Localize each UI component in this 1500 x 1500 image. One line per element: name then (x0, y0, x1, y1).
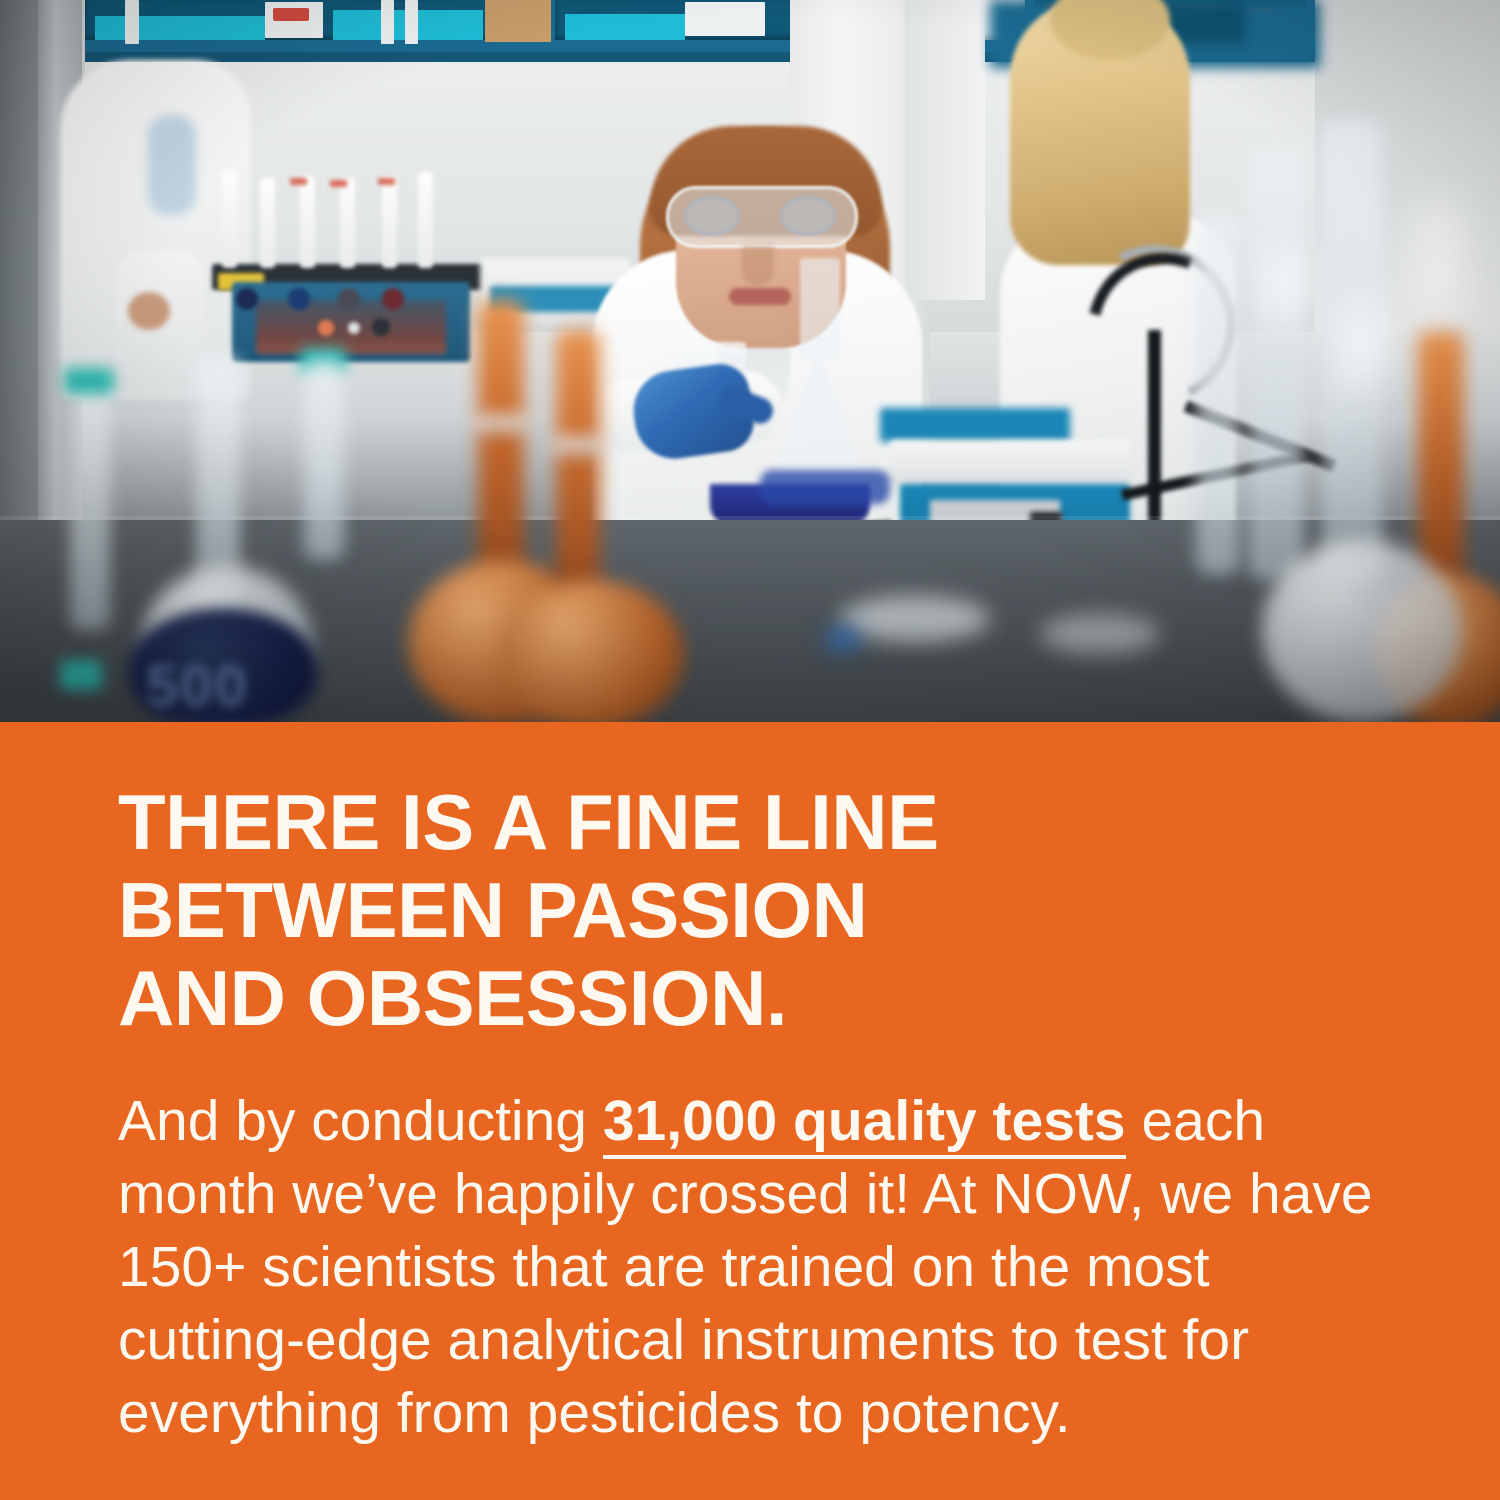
scientist-left-hand (128, 292, 170, 330)
graduated-cylinder-1 (1248, 150, 1304, 580)
body-copy: And by conducting 31,000 quality tests e… (118, 1085, 1386, 1450)
scientist-left-collar (148, 115, 196, 215)
orange-copy-panel: THERE IS A FINE LINE BETWEEN PASSION AND… (0, 722, 1500, 1500)
glass-highlight-2 (1344, 300, 1376, 390)
lab-photo: 500 (0, 0, 1500, 722)
headline-line-2: BETWEEN PASSION (118, 866, 1378, 954)
clear-flask-neck-center (304, 360, 344, 560)
bench-item-white (1040, 614, 1160, 654)
flask-liquid-highlight (760, 470, 890, 504)
wall-pillar-secondary (905, 0, 985, 300)
amber-flask-neck-2 (556, 330, 600, 620)
petri-dish (840, 596, 990, 642)
scientist-center-mouth (729, 288, 791, 305)
flask-500-label: 500 (146, 658, 249, 716)
scientist-center-nose (742, 246, 774, 286)
flask-collar-1 (472, 414, 530, 434)
body-copy-part-1: And by conducting (118, 1089, 603, 1153)
glass-highlight-3 (1420, 200, 1460, 320)
scientist-center-chin (722, 312, 796, 338)
erlenmeyer-flask-neck (800, 258, 840, 358)
ad-creative: 500 THERE IS A FINE LINE BETWEEN PASSION… (0, 0, 1500, 1500)
instrument-right-cover (890, 440, 1130, 486)
body-copy-emphasis: 31,000 quality tests (603, 1089, 1126, 1159)
headline: THERE IS A FINE LINE BETWEEN PASSION AND… (118, 778, 1378, 1042)
flask-cap-teal-left (60, 660, 102, 690)
clear-flask-bulb-right (1262, 540, 1462, 722)
clear-flask-neck-left2 (70, 380, 110, 630)
amber-flask-neck-1 (478, 300, 524, 600)
flask-collar-2 (550, 436, 606, 456)
bench-cap-blue (826, 628, 860, 650)
graduated-cylinder-3 (1196, 215, 1240, 575)
glass-highlight-1 (1268, 250, 1302, 320)
flask-cap-teal-left2 (64, 368, 114, 394)
headline-line-1: THERE IS A FINE LINE (118, 778, 1378, 866)
instrument-right-top (880, 408, 1070, 442)
headline-line-3: AND OBSESSION. (118, 954, 1378, 1042)
safety-goggles-icon (666, 186, 858, 248)
amber-flask-bulb-2 (500, 580, 684, 722)
